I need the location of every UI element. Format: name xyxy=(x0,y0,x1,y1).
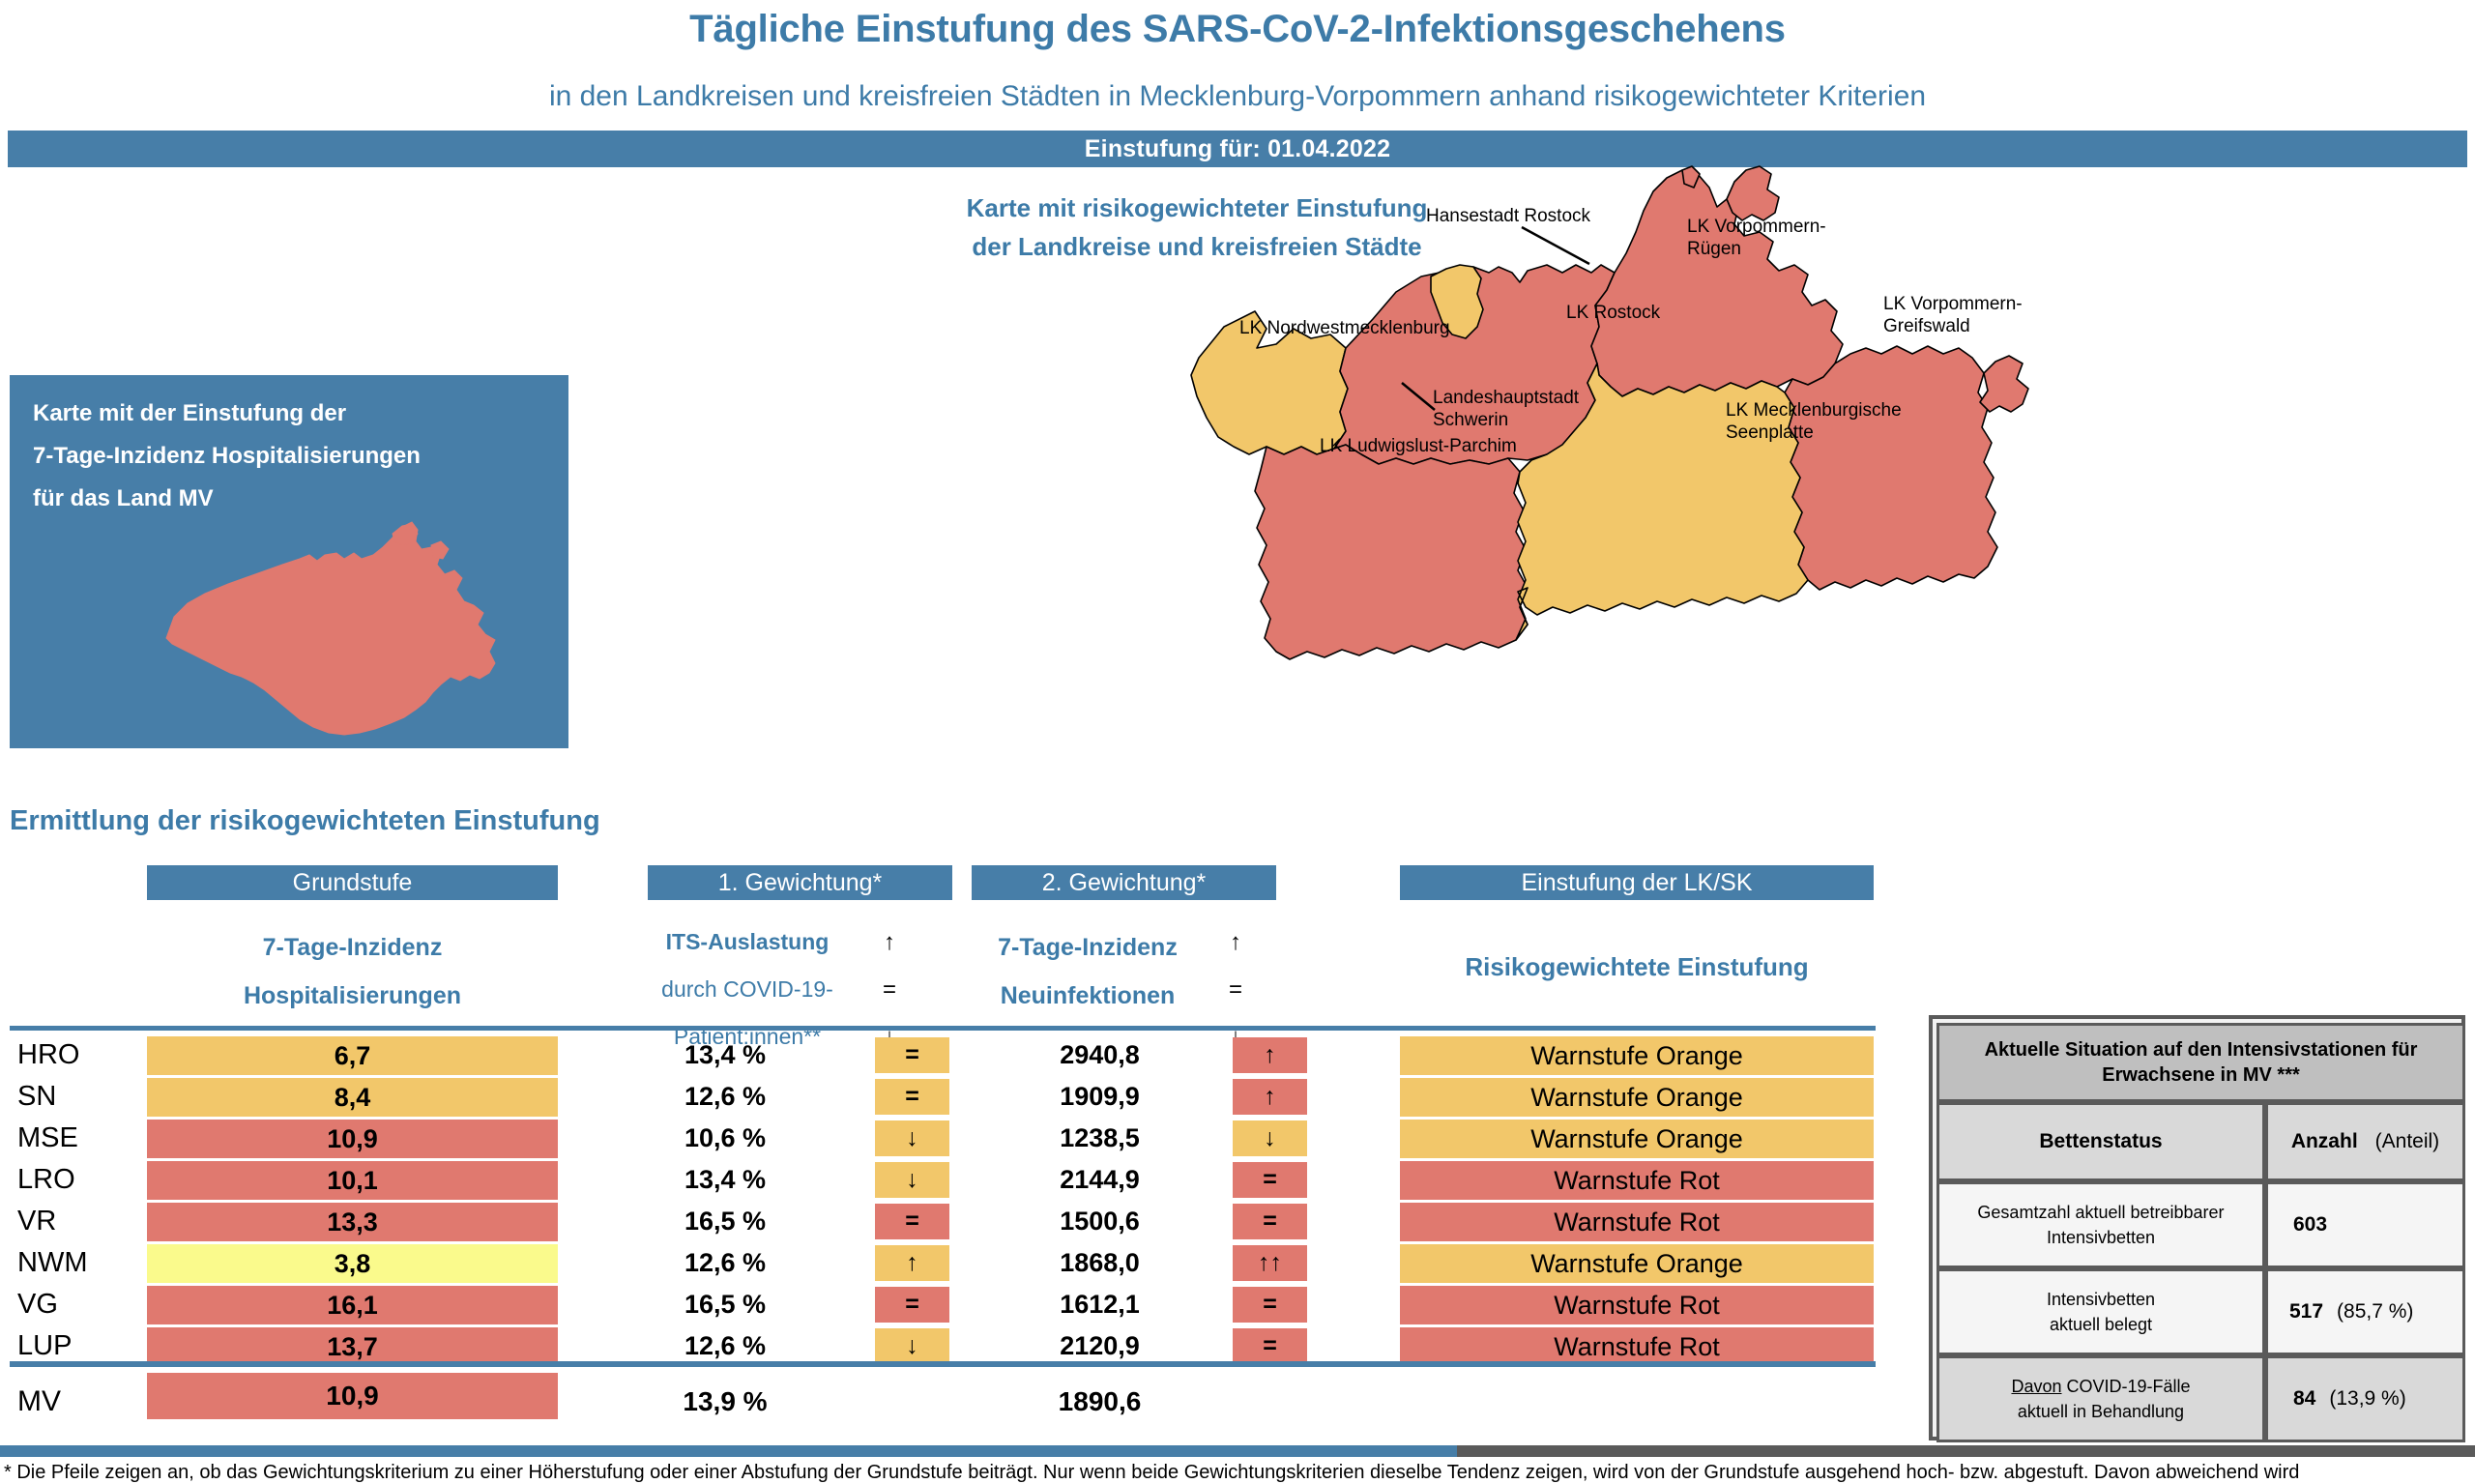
section-heading: Ermittlung der risikogewichteten Einstuf… xyxy=(10,805,600,837)
map-label-lup: LK Ludwigslust-Parchim xyxy=(1320,435,1517,457)
row-incidence-value: 1909,9 xyxy=(967,1076,1233,1118)
row-code: VR xyxy=(17,1201,143,1242)
footer-bar-grey xyxy=(1457,1445,2475,1457)
row-hospitalization-value: 6,7 xyxy=(147,1036,558,1075)
inset-map-panel: Karte mit der Einstufung der 7-Tage-Inzi… xyxy=(10,375,568,748)
row-incidence-trend-icon: ↑ xyxy=(1233,1037,1307,1073)
row-hospitalization-value: 13,7 xyxy=(147,1327,558,1366)
row-code: LRO xyxy=(17,1159,143,1201)
leader-line-hro xyxy=(1520,225,1616,269)
table-row-summary: MV 10,9 13,9 % 1890,6 xyxy=(0,1378,1876,1426)
icu-header-anteil: (Anteil) xyxy=(2375,1130,2440,1153)
row-incidence-value: 1868,0 xyxy=(967,1242,1233,1284)
row-incidence-value: 2940,8 xyxy=(967,1034,1233,1076)
icu-row-3-label-line1: COVID-19-Fälle xyxy=(2062,1377,2191,1396)
icu-row-2-label-line2: aktuell belegt xyxy=(2050,1315,2152,1334)
map-label-vr: LK Vorpommern- Rügen xyxy=(1687,216,1826,260)
icu-row-2-label-line1: Intensivbetten xyxy=(2047,1290,2155,1309)
table-row: MSE10,910,6 %↓1238,5↓Warnstufe Orange xyxy=(0,1118,1876,1159)
column-header-einstufung: Einstufung der LK/SK xyxy=(1400,865,1874,900)
row-classification: Warnstufe Rot xyxy=(1400,1327,1874,1366)
inset-mv-map xyxy=(155,520,561,742)
district-vg xyxy=(1785,346,1997,590)
leader-line-sn xyxy=(1396,381,1444,415)
icu-row-2-values: 517 (85,7 %) xyxy=(2265,1268,2465,1355)
row-icu-trend-icon: ↓ xyxy=(875,1328,949,1364)
footer-bar-blue xyxy=(0,1445,1457,1457)
icu-row-2-share: (85,7 %) xyxy=(2337,1300,2413,1324)
row-icu-trend-icon: ↓ xyxy=(875,1162,949,1198)
row-classification: Warnstufe Orange xyxy=(1400,1036,1874,1075)
mv-district-map xyxy=(1141,164,2417,841)
row-classification: Warnstufe Orange xyxy=(1400,1078,1874,1117)
row-code: MV xyxy=(17,1378,143,1419)
page-subtitle: in den Landkreisen und kreisfreien Städt… xyxy=(0,80,2475,113)
inset-title-line3: für das Land MV xyxy=(33,478,545,520)
icu-header-count: Anzahl (Anteil) xyxy=(2265,1102,2465,1181)
row-icu-trend-icon: ↓ xyxy=(875,1120,949,1156)
table-bottom-rule xyxy=(10,1361,1876,1367)
gew2-sub-line2: Neuinfektionen xyxy=(967,972,1208,1020)
inset-title-line1: Karte mit der Einstufung der xyxy=(33,393,545,435)
row-icu-trend-icon: ↑ xyxy=(875,1245,949,1281)
grundstufe-sub-line2: Hospitalisierungen xyxy=(147,972,558,1020)
row-classification: Warnstufe Rot xyxy=(1400,1203,1874,1241)
row-icu-value: 13,9 % xyxy=(599,1378,851,1426)
row-icu-trend-icon: = xyxy=(875,1287,949,1323)
row-incidence-trend-icon: = xyxy=(1233,1204,1307,1239)
row-hospitalization-value: 16,1 xyxy=(147,1286,558,1324)
row-icu-value: 16,5 % xyxy=(599,1201,851,1242)
island-ruegen xyxy=(1727,166,1779,220)
row-hospitalization-value: 8,4 xyxy=(147,1078,558,1117)
date-banner: Einstufung für: 01.04.2022 xyxy=(8,131,2467,167)
row-hospitalization-value: 13,3 xyxy=(147,1203,558,1241)
row-hospitalization-value: 10,1 xyxy=(147,1161,558,1200)
row-code: HRO xyxy=(17,1034,143,1076)
row-icu-value: 10,6 % xyxy=(599,1118,851,1159)
row-hospitalization-value: 3,8 xyxy=(147,1244,558,1283)
icu-row-3-share: (13,9 %) xyxy=(2329,1387,2405,1411)
row-icu-value: 12,6 % xyxy=(599,1242,851,1284)
icu-row-2-label: Intensivbetten aktuell belegt xyxy=(1936,1268,2265,1355)
icu-box-title: Aktuelle Situation auf den Intensivstati… xyxy=(1936,1023,2465,1102)
row-incidence-trend-icon: = xyxy=(1233,1287,1307,1323)
icu-row-1-values: 603 xyxy=(2265,1181,2465,1268)
icu-row-3-label-line2: aktuell in Behandlung xyxy=(2018,1402,2184,1421)
table-row: SN8,412,6 %=1909,9↑Warnstufe Orange xyxy=(0,1076,1876,1118)
row-code: NWM xyxy=(17,1242,143,1284)
icu-row-3-label-prefix: Davon xyxy=(2011,1377,2061,1396)
column-header-grundstufe: Grundstufe xyxy=(147,865,558,900)
icu-status-box: Aktuelle Situation auf den Intensivstati… xyxy=(1929,1015,2465,1440)
icu-header-bedstatus: Bettenstatus xyxy=(1936,1102,2265,1181)
gew1-sub-line2: durch COVID-19- xyxy=(626,966,868,1013)
map-label-hro: Hansestadt Rostock xyxy=(1426,205,1590,227)
icu-row-1-count: 603 xyxy=(2293,1213,2327,1237)
column-subheader-grundstufe: 7-Tage-Inzidenz Hospitalisierungen xyxy=(147,923,558,1020)
arrow-up-icon: ↑ xyxy=(1216,918,1255,966)
row-incidence-trend-icon: ↑↑ xyxy=(1233,1245,1307,1281)
inset-title-line2: 7-Tage-Inzidenz Hospitalisierungen xyxy=(33,435,545,478)
footnote-text: * Die Pfeile zeigen an, ob das Gewichtun… xyxy=(4,1462,2475,1484)
table-row: VR13,316,5 %=1500,6=Warnstufe Rot xyxy=(0,1201,1876,1242)
row-incidence-value: 1238,5 xyxy=(967,1118,1233,1159)
arrow-equal-icon: = xyxy=(1216,966,1255,1013)
table-top-rule xyxy=(10,1026,1876,1031)
table-row: LRO10,113,4 %↓2144,9=Warnstufe Rot xyxy=(0,1159,1876,1201)
row-icu-value: 13,4 % xyxy=(599,1159,851,1201)
map-label-mse: LK Mecklenburgische Seenplatte xyxy=(1726,399,1902,444)
row-classification: Warnstufe Orange xyxy=(1400,1244,1874,1283)
page-title: Tägliche Einstufung des SARS-CoV-2-Infek… xyxy=(0,8,2475,51)
row-incidence-value: 2144,9 xyxy=(967,1159,1233,1201)
row-incidence-value: 1500,6 xyxy=(967,1201,1233,1242)
icu-row-2-count: 517 xyxy=(2289,1300,2323,1324)
inset-map-title: Karte mit der Einstufung der 7-Tage-Inzi… xyxy=(33,393,545,520)
arrow-up-icon: ↑ xyxy=(870,918,909,966)
row-incidence-trend-icon: = xyxy=(1233,1328,1307,1364)
table-row: VG16,116,5 %=1612,1=Warnstufe Rot xyxy=(0,1284,1876,1325)
map-label-sn: Landeshauptstadt Schwerin xyxy=(1433,387,1579,431)
gew2-sub-line1: 7-Tage-Inzidenz xyxy=(967,923,1208,972)
map-label-vg: LK Vorpommern- Greifswald xyxy=(1883,293,2023,337)
island-usedom xyxy=(1980,356,2028,412)
icu-row-3-label: Davon COVID-19-Fälle aktuell in Behandlu… xyxy=(1936,1355,2265,1442)
icu-header-anzahl: Anzahl xyxy=(2291,1130,2358,1153)
row-classification: Warnstufe Orange xyxy=(1400,1120,1874,1158)
row-incidence-trend-icon: = xyxy=(1233,1162,1307,1198)
icu-row-1-label: Gesamtzahl aktuell betreibbarer Intensiv… xyxy=(1936,1181,2265,1268)
row-code: MSE xyxy=(17,1118,143,1159)
row-hospitalization-value: 10,9 xyxy=(147,1120,558,1158)
row-incidence-trend-icon: ↓ xyxy=(1233,1120,1307,1156)
row-classification: Warnstufe Rot xyxy=(1400,1161,1874,1200)
map-label-lro: LK Rostock xyxy=(1566,302,1660,324)
icu-row-1-label-line2: Intensivbetten xyxy=(2047,1228,2155,1247)
icu-row-1-label-line1: Gesamtzahl aktuell betreibbarer xyxy=(1977,1203,2224,1222)
row-icu-value: 16,5 % xyxy=(599,1284,851,1325)
row-icu-trend-icon: = xyxy=(875,1079,949,1115)
row-incidence-value: 1612,1 xyxy=(967,1284,1233,1325)
arrow-equal-icon: = xyxy=(870,966,909,1013)
row-icu-value: 12,6 % xyxy=(599,1076,851,1118)
row-incidence-value: 1890,6 xyxy=(967,1378,1233,1426)
poster-root: Tägliche Einstufung des SARS-CoV-2-Infek… xyxy=(0,0,2475,1484)
column-header-gewichtung-2: 2. Gewichtung* xyxy=(972,865,1276,900)
grundstufe-sub-line1: 7-Tage-Inzidenz xyxy=(147,923,558,972)
row-icu-trend-icon: = xyxy=(875,1204,949,1239)
row-code: VG xyxy=(17,1284,143,1325)
column-subheader-gewichtung-2: 7-Tage-Inzidenz Neuinfektionen xyxy=(967,923,1208,1020)
row-hospitalization-value: 10,9 xyxy=(147,1373,558,1419)
row-code: SN xyxy=(17,1076,143,1118)
icu-row-3-values: 84 (13,9 %) xyxy=(2265,1355,2465,1442)
row-icu-trend-icon: = xyxy=(875,1037,949,1073)
icu-row-3-count: 84 xyxy=(2293,1387,2315,1411)
column-header-gewichtung-1: 1. Gewichtung* xyxy=(648,865,952,900)
map-label-nwm: LK Nordwestmecklenburg xyxy=(1239,317,1450,339)
row-incidence-trend-icon: ↑ xyxy=(1233,1079,1307,1115)
table-row: HRO6,713,4 %=2940,8↑Warnstufe Orange xyxy=(0,1034,1876,1076)
column-subheader-einstufung: Risikogewichtete Einstufung xyxy=(1400,952,1874,982)
row-classification: Warnstufe Rot xyxy=(1400,1286,1874,1324)
gew1-sub-line1: ITS-Auslastung xyxy=(626,918,868,966)
row-icu-value: 13,4 % xyxy=(599,1034,851,1076)
table-row: NWM3,812,6 %↑1868,0↑↑Warnstufe Orange xyxy=(0,1242,1876,1284)
